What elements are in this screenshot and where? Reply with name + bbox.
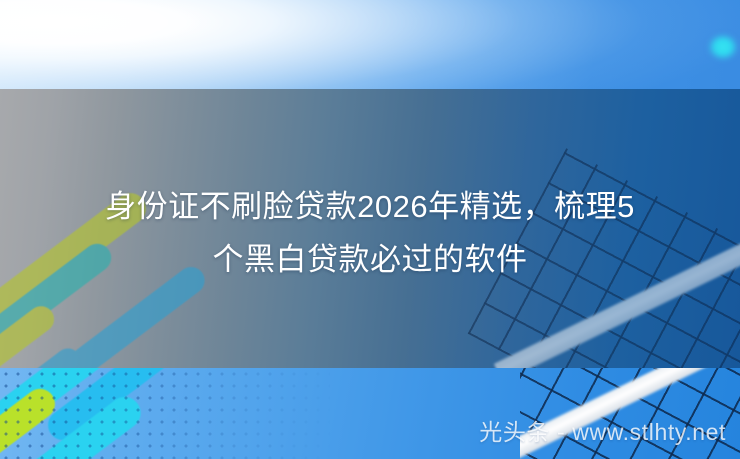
- cover-title-line-1: 身份证不刷脸贷款2026年精选，梳理5: [28, 180, 712, 233]
- cover-title: 身份证不刷脸贷款2026年精选，梳理5 个黑白贷款必过的软件: [0, 180, 740, 286]
- top-sky-band: [0, 0, 740, 89]
- cyan-glow-dot-icon: [706, 32, 740, 62]
- halftone-dots-decoration: [0, 368, 330, 459]
- site-watermark: 光头条 - www.stlhty.net: [479, 417, 726, 447]
- cover-title-line-2: 个黑白贷款必过的软件: [28, 233, 712, 286]
- cover-image: 身份证不刷脸贷款2026年精选，梳理5 个黑白贷款必过的软件 光头条 - www…: [0, 0, 740, 459]
